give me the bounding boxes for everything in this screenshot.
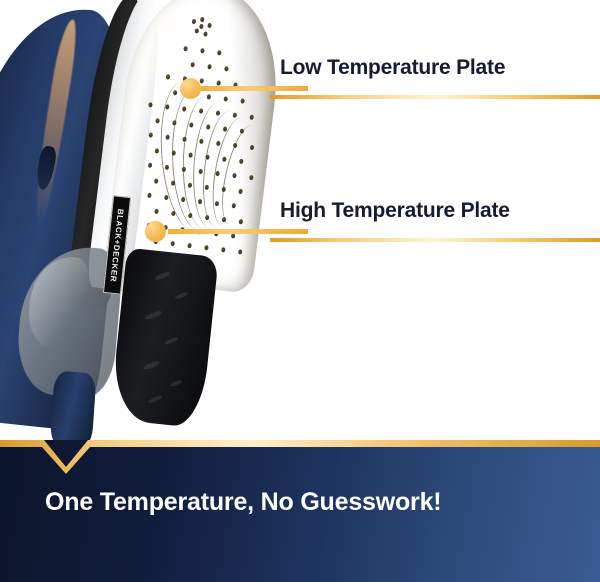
heel-vent: [154, 271, 171, 282]
callout-line-low-temperature: [196, 86, 308, 91]
steam-hole: [170, 241, 175, 246]
heel-vent: [164, 336, 179, 345]
callout-line-high-temperature: [168, 229, 308, 234]
callout-underline-low-temperature: [270, 95, 600, 99]
callout-dot-low-temperature[interactable]: [180, 78, 201, 99]
iron-cord-stub: [49, 371, 96, 440]
steam-hole: [164, 195, 169, 200]
steam-hole: [204, 215, 209, 220]
steam-hole: [231, 233, 236, 238]
callout-label-low-temperature: Low Temperature Plate: [280, 56, 505, 80]
heel-vent: [169, 379, 183, 388]
steam-hole: [192, 19, 197, 24]
heel-vent: [147, 395, 162, 404]
steam-hole: [183, 46, 188, 51]
steam-hole: [154, 178, 159, 183]
steam-hole: [171, 211, 176, 216]
heel-vent: [143, 360, 161, 371]
steam-hole: [199, 24, 204, 29]
steam-hole: [232, 143, 237, 148]
steam-hole: [187, 243, 192, 248]
product-photo: BLACK+DECKER Low Temperature Plate High …: [0, 0, 600, 440]
steam-hole: [199, 139, 204, 144]
steam-hole: [165, 134, 170, 139]
steam-hole: [188, 213, 193, 218]
steam-hole: [200, 48, 205, 53]
steam-hole: [221, 217, 226, 222]
callout-underline-high-temperature: [270, 238, 600, 242]
steam-hole: [147, 193, 152, 198]
brand-logo-text: BLACK+DECKER: [109, 208, 126, 282]
steam-hole: [182, 136, 187, 141]
steam-hole: [190, 62, 195, 67]
bottom-banner: One Temperature, No Guesswork!: [0, 440, 600, 582]
steam-hole: [250, 115, 255, 120]
steam-hole: [200, 17, 205, 22]
steam-hole: [200, 78, 205, 83]
steam-hole: [195, 28, 200, 33]
steam-hole: [223, 96, 228, 101]
steam-hole: [217, 80, 222, 85]
steam-hole: [240, 98, 245, 103]
steam-hole: [149, 102, 154, 107]
steam-hole: [148, 162, 153, 167]
steam-hole: [216, 141, 221, 146]
steam-hole: [217, 50, 222, 55]
infographic-canvas: BLACK+DECKER Low Temperature Plate High …: [0, 0, 600, 582]
steam-hole: [207, 23, 212, 28]
steam-hole: [221, 247, 226, 252]
iron-heel: [109, 248, 218, 429]
banner-headline: One Temperature, No Guesswork!: [45, 488, 441, 517]
steam-hole: [249, 145, 254, 150]
steam-hole: [204, 245, 209, 250]
steam-hole: [238, 219, 243, 224]
steam-hole: [238, 249, 243, 254]
heel-vent: [174, 291, 188, 300]
steam-hole: [155, 148, 160, 153]
steam-hole: [148, 132, 153, 137]
banner-gold-edge-shape: [0, 440, 600, 474]
callout-label-high-temperature: High Temperature Plate: [280, 199, 510, 223]
steam-hole: [154, 209, 159, 214]
steam-hole: [203, 31, 208, 36]
steam-hole: [155, 118, 160, 123]
steam-hole: [166, 74, 171, 79]
heel-vent: [144, 310, 163, 321]
steam-hole: [224, 66, 229, 71]
callout-dot-high-temperature[interactable]: [145, 221, 166, 242]
steam-hole: [207, 64, 212, 69]
